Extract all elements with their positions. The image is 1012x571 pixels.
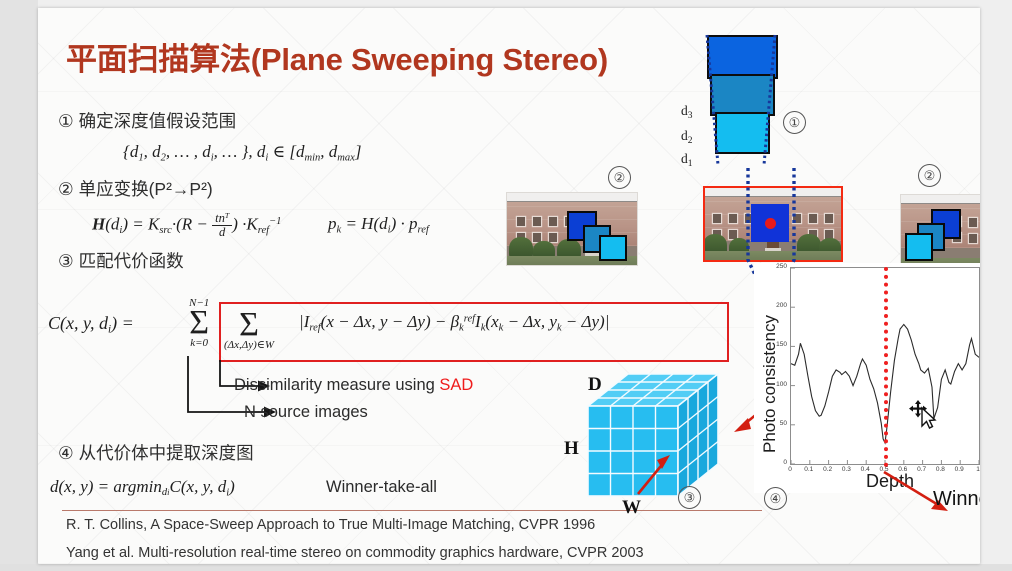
step-2-text: 单应变换(P²→P²) — [79, 179, 213, 199]
frustum-badge: ① — [783, 111, 806, 134]
dissimilarity-annotation: Dissimilarity measure using SAD — [234, 376, 473, 395]
depth-set-formula: {d1, d2, … , di, … }, di ∈ [dmin, dmax] — [123, 142, 361, 163]
candidate-patch-1 — [599, 235, 627, 261]
right-image-badge: ② — [918, 164, 941, 187]
plot-x-tick-label: 0.1 — [802, 466, 816, 473]
step-1: ① 确定深度值假设范围 — [58, 108, 236, 133]
n-source-images-annotation: N source images — [244, 403, 368, 422]
photo-window — [969, 234, 977, 243]
plot-y-tick-label: 0 — [771, 459, 787, 466]
cost-function-highlight-box — [219, 302, 729, 362]
step-1-marker: ① — [58, 111, 74, 131]
cost-volume-cube — [558, 366, 738, 511]
cost-outer-sum: N−1 Σ k=0 — [189, 298, 209, 349]
homography-formula: H(di) = Ksrc·(R − tnTd) ·Kref−1 — [92, 212, 281, 239]
plot-y-tick-label: 100 — [771, 381, 787, 388]
winner-marker-line — [884, 267, 888, 467]
reference-2: Yang et al. Multi-resolution real-time s… — [66, 545, 644, 561]
right-source-image — [900, 194, 980, 268]
cost-outer-sum-bottom: k=0 — [189, 338, 209, 349]
step-3-text: 匹配代价函数 — [79, 251, 184, 271]
presentation-slide: 平面扫描算法(Plane Sweeping Stereo) ① 确定深度值假设范… — [0, 0, 1012, 571]
plot-y-tick-label: 200 — [771, 302, 787, 309]
step-2: ② 单应变换(P²→P²) — [58, 176, 213, 201]
plot-x-tick-label: 0 — [783, 466, 797, 473]
plot-x-tick-label: 1 — [971, 466, 980, 473]
plot-x-tick-label: 0.2 — [821, 466, 835, 473]
depth-label-d2: d2 — [681, 128, 693, 146]
winner-label: Winner — [933, 488, 980, 511]
frustum-rays — [693, 30, 793, 170]
slide-page: 平面扫描算法(Plane Sweeping Stereo) ① 确定深度值假设范… — [38, 8, 980, 564]
depth-label-d3: d3 — [681, 103, 693, 121]
slide-left-margin — [0, 0, 38, 571]
cost-function-lhs: C(x, y, di) = — [48, 313, 134, 336]
candidate-patch-1 — [905, 233, 933, 261]
argmin-formula: d(x, y) = argmindiC(x, y, di) — [50, 477, 235, 498]
photo-window — [517, 217, 525, 226]
reference-1: R. T. Collins, A Space-Sweep Approach to… — [66, 517, 595, 533]
step-2-marker: ② — [58, 179, 74, 199]
photo-window — [549, 217, 557, 226]
page-title: 平面扫描算法(Plane Sweeping Stereo) — [66, 34, 766, 79]
cube-label-depth: D — [588, 374, 602, 396]
step-1-text: 确定深度值假设范围 — [79, 111, 237, 131]
plot-y-tick-label: 150 — [771, 341, 787, 348]
cost-volume-badge: ③ — [678, 486, 701, 509]
depth-label-d1: d1 — [681, 151, 693, 169]
left-image-badge: ② — [608, 166, 631, 189]
cube-label-width: W — [622, 497, 641, 519]
photo-consistency-plot: Photo consistency 050100150200250 00.10.… — [754, 263, 980, 493]
point-mapping-formula: pk = H(di) · pref — [328, 214, 429, 235]
cost-volume-svg — [558, 366, 738, 506]
sad-metric-label: SAD — [439, 376, 473, 394]
plot-y-tick-label: 50 — [771, 420, 787, 427]
step-4: ④ 从代价体中提取深度图 — [58, 440, 254, 465]
plot-badge: ④ — [764, 487, 787, 510]
step-3-marker: ③ — [58, 251, 74, 271]
step-4-text: 从代价体中提取深度图 — [79, 443, 254, 463]
photo-window — [533, 217, 541, 226]
slide-bottom-margin — [0, 564, 1012, 571]
photo-window — [969, 218, 977, 227]
left-source-image — [506, 192, 638, 266]
plot-x-tick-label: 0.3 — [839, 466, 853, 473]
step-3: ③ 匹配代价函数 — [58, 248, 184, 273]
step-4-marker: ④ — [58, 443, 74, 463]
cube-label-height: H — [564, 438, 579, 460]
photo-window — [549, 233, 557, 242]
dissimilarity-label: Dissimilarity measure using — [234, 376, 439, 394]
winner-take-all-annotation: Winner-take-all — [326, 478, 437, 497]
plot-y-tick-label: 250 — [771, 263, 787, 270]
